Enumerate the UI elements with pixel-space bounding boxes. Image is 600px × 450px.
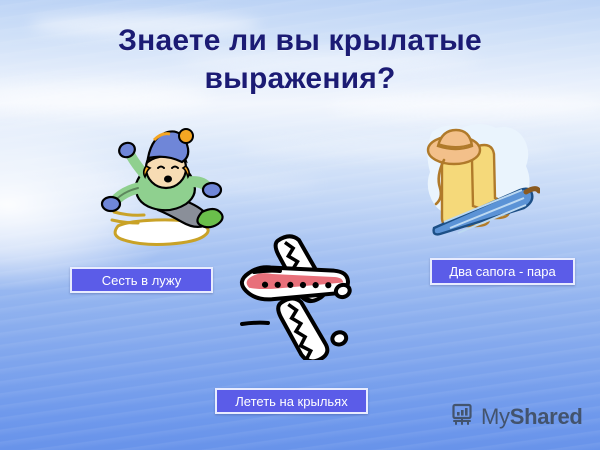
- mouth: [164, 176, 172, 183]
- shoe: [197, 209, 222, 227]
- presentation-slide: Знаете ли вы крылатые выражения?: [0, 0, 600, 450]
- slide-title-line-2: выражения?: [60, 60, 540, 98]
- lower-wing: [276, 292, 330, 360]
- myshared-my: My: [481, 404, 510, 429]
- slide-title: Знаете ли вы крылатые выражения?: [60, 22, 540, 97]
- caption-text: Сесть в лужу: [102, 274, 182, 287]
- wing-nub: [331, 331, 348, 347]
- hat-pompom: [179, 129, 193, 143]
- slide-title-line-1: Знаете ли вы крылатые: [60, 22, 540, 60]
- boy-falling-in-puddle-illustration: [96, 126, 228, 252]
- boots-hat-umbrella-illustration: [422, 116, 540, 246]
- presentation-chart-icon: [449, 401, 475, 432]
- myshared-shared: Shared: [510, 404, 583, 429]
- cloud-wisp: [330, 96, 600, 116]
- mitten: [203, 183, 221, 197]
- airplane-illustration: [236, 232, 354, 360]
- caption-text: Два сапога - пара: [449, 265, 555, 278]
- caption-letet-na-krylyah: Лететь на крыльях: [215, 388, 368, 414]
- umbrella-handle: [526, 189, 539, 192]
- caption-sest-v-luzhu: Сесть в лужу: [70, 267, 213, 293]
- mitten: [102, 197, 120, 211]
- motion-line: [254, 271, 280, 272]
- myshared-watermark: MyShared: [449, 401, 583, 432]
- motion-line: [242, 323, 268, 324]
- caption-text: Лететь на крыльях: [235, 395, 347, 408]
- tail-nub: [334, 283, 351, 299]
- myshared-wordmark: MyShared: [481, 404, 583, 430]
- caption-dva-sapoga-para: Два сапога - пара: [430, 258, 575, 285]
